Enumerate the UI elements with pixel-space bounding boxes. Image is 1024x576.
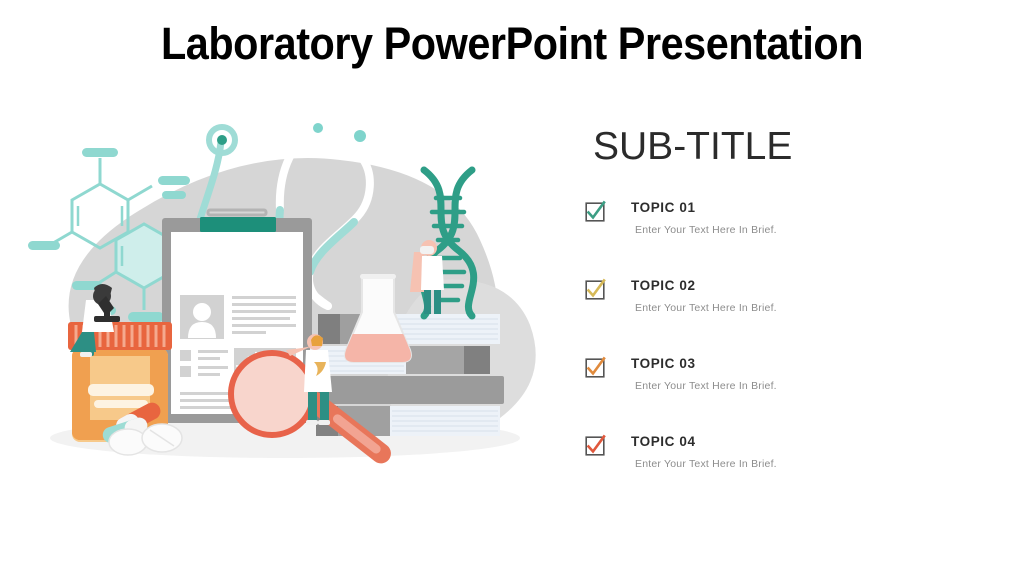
page-title: Laboratory PowerPoint Presentation <box>41 18 983 70</box>
checkbox-checked-icon[interactable] <box>585 280 605 300</box>
topic-item-01[interactable]: TOPIC 01 Enter Your Text Here In Brief. <box>585 201 985 243</box>
laboratory-science-illustration <box>10 100 570 480</box>
checkbox-checked-icon[interactable] <box>585 436 605 456</box>
topic-description: Enter Your Text Here In Brief. <box>635 458 985 471</box>
topic-description: Enter Your Text Here In Brief. <box>635 380 985 393</box>
topic-item-04[interactable]: TOPIC 04 Enter Your Text Here In Brief. <box>585 435 985 477</box>
topic-item-03[interactable]: TOPIC 03 Enter Your Text Here In Brief. <box>585 357 985 399</box>
topic-description: Enter Your Text Here In Brief. <box>635 224 985 237</box>
topic-text-block: TOPIC 03 Enter Your Text Here In Brief. <box>631 357 985 392</box>
checkbox-checked-icon[interactable] <box>585 358 605 378</box>
topic-label: TOPIC 03 <box>631 357 985 371</box>
topic-text-block: TOPIC 01 Enter Your Text Here In Brief. <box>631 201 985 236</box>
presentation-slide: Laboratory PowerPoint Presentation <box>0 0 1024 576</box>
topic-label: TOPIC 01 <box>631 201 985 215</box>
content-panel: SUB-TITLE TOPIC 01 Enter Your Text Here … <box>585 125 985 477</box>
topic-description: Enter Your Text Here In Brief. <box>635 302 985 315</box>
topic-label: TOPIC 04 <box>631 435 985 449</box>
topic-text-block: TOPIC 04 Enter Your Text Here In Brief. <box>631 435 985 470</box>
topic-label: TOPIC 02 <box>631 279 985 293</box>
subtitle: SUB-TITLE <box>593 125 985 169</box>
topic-item-02[interactable]: TOPIC 02 Enter Your Text Here In Brief. <box>585 279 985 321</box>
topic-text-block: TOPIC 02 Enter Your Text Here In Brief. <box>631 279 985 314</box>
checkbox-checked-icon[interactable] <box>585 202 605 222</box>
topic-list: TOPIC 01 Enter Your Text Here In Brief. … <box>585 201 985 477</box>
